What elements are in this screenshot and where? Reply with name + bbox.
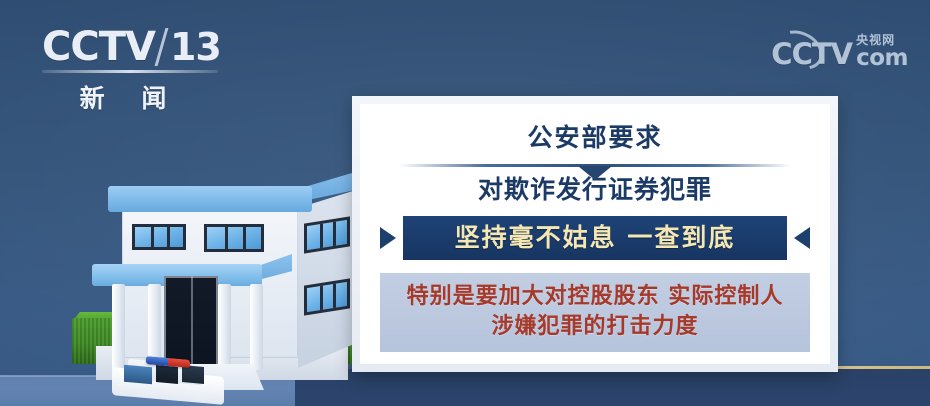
cctv-com-watermark: CCTV 央视网 com xyxy=(771,34,908,69)
highlight-bar-row: 坚持毫不姑息 一查到底 xyxy=(380,216,810,260)
info-card: 公安部要求 对欺诈发行证券犯罪 坚持毫不姑息 一查到底 特别是要加大对控股股东 … xyxy=(352,96,838,372)
watermark-domain: com xyxy=(856,47,908,69)
cctv-channel-number: 13 xyxy=(170,27,221,67)
cctv-logo-subtitle: 新 闻 xyxy=(42,79,218,115)
emphasis-line-1: 特别是要加大对控股股东 实际控制人 xyxy=(390,282,800,312)
window-front-right xyxy=(204,224,264,252)
emphasis-panel: 特别是要加大对控股股东 实际控制人 涉嫌犯罪的打击力度 xyxy=(380,273,810,352)
broadcast-screen: CCTV 13 新 闻 CCTV 央视网 com xyxy=(0,0,930,406)
police-car-window-middle xyxy=(156,365,178,384)
divider-triangle-icon xyxy=(578,166,612,180)
roof-slab xyxy=(108,186,312,212)
highlight-bar: 坚持毫不姑息 一查到底 xyxy=(403,216,787,260)
emphasis-line-2: 涉嫌犯罪的打击力度 xyxy=(390,312,800,342)
police-car xyxy=(112,358,224,402)
arrow-left-icon xyxy=(794,227,810,249)
cctv-logo-row: CCTV 13 xyxy=(42,26,232,68)
title-divider xyxy=(399,160,791,167)
police-car-window-rear xyxy=(182,365,204,384)
info-card-inner: 公安部要求 对欺诈发行证券犯罪 坚持毫不姑息 一查到底 特别是要加大对控股股东 … xyxy=(360,104,830,364)
cctv-wordmark: CCTV xyxy=(42,27,155,67)
window-front-left xyxy=(132,224,186,250)
canopy-column-4 xyxy=(250,284,263,370)
cctv-logo-slash-icon xyxy=(155,28,169,66)
arrow-right-icon xyxy=(380,227,396,249)
cctv-logo: CCTV 13 新 闻 xyxy=(42,26,232,96)
cctv-logo-underline xyxy=(42,70,218,73)
watermark-stack: 央视网 com xyxy=(856,34,908,69)
police-car-window-front xyxy=(124,365,152,384)
highlight-text: 坚持毫不姑息 一查到底 xyxy=(455,223,736,252)
card-title: 公安部要求 xyxy=(527,122,662,154)
